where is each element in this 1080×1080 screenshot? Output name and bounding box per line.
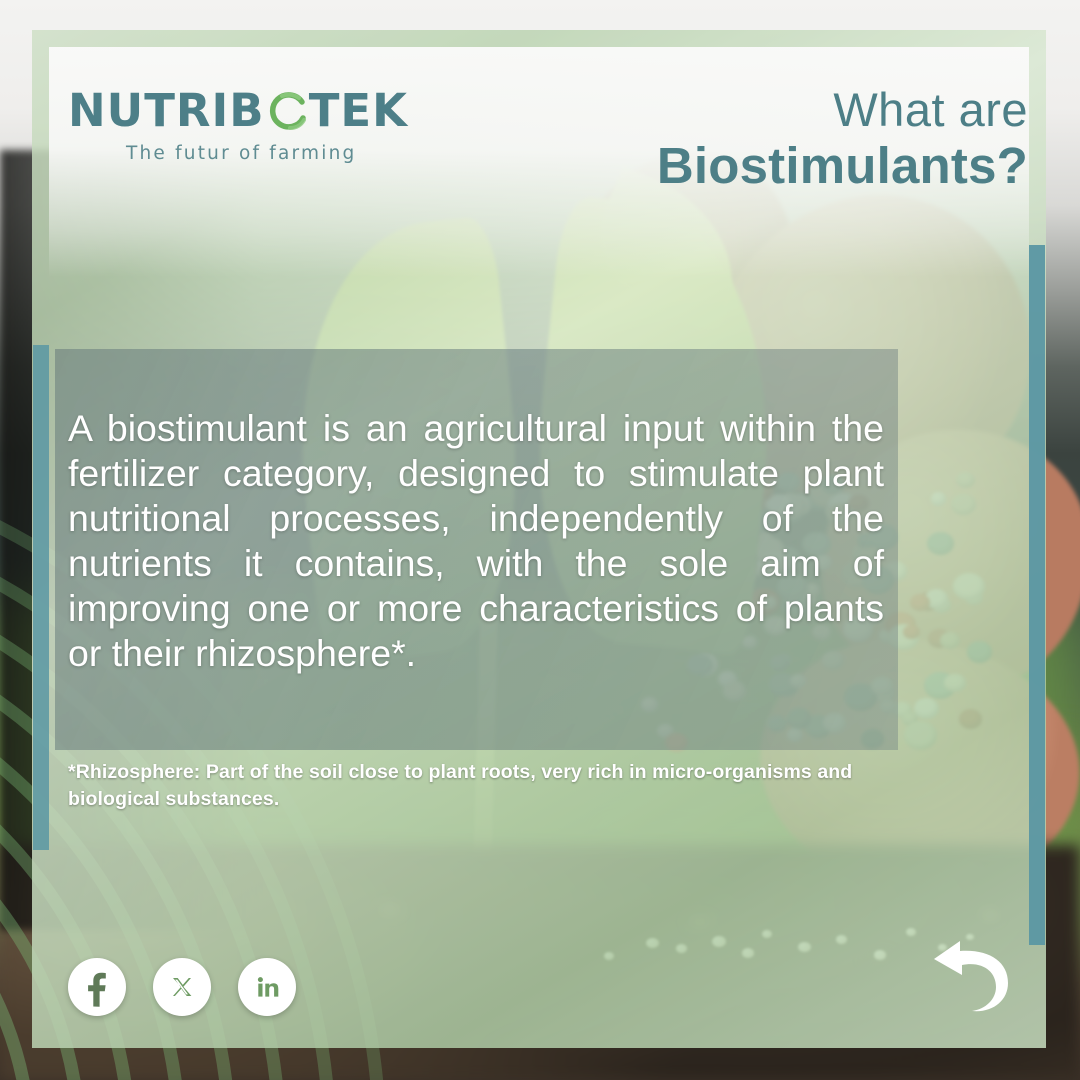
facebook-icon: [77, 967, 117, 1007]
post-canvas: NUTRIB TEK The futur of farming What are…: [0, 0, 1080, 1080]
brand-logo[interactable]: NUTRIB TEK The futur of farming: [68, 88, 408, 164]
title-line-2: Biostimulants?: [657, 140, 1028, 192]
social-link-x-twitter[interactable]: [153, 958, 211, 1016]
logo-wordmark: NUTRIB TEK: [68, 88, 408, 133]
green-circle-swoosh-icon: [266, 89, 308, 133]
social-link-linkedin[interactable]: [238, 958, 296, 1016]
swipe-back-button[interactable]: [930, 925, 1010, 1015]
accent-bar-left: [33, 345, 49, 850]
logo-text-part-1: NUTRIB: [68, 88, 265, 133]
logo-text-part-2: TEK: [309, 88, 408, 133]
social-links: [68, 958, 296, 1016]
definition-paragraph: A biostimulant is an agricultural input …: [68, 406, 884, 676]
title-line-1: What are: [657, 86, 1028, 134]
logo-tagline: The futur of farming: [126, 143, 408, 164]
undo-arrow-icon: [930, 925, 1010, 1015]
accent-bar-right: [1029, 245, 1045, 945]
page-title: What are Biostimulants?: [657, 86, 1028, 192]
rhizosphere-footnote: *Rhizosphere: Part of the soil close to …: [68, 759, 928, 813]
x-twitter-icon: [162, 967, 202, 1007]
social-link-facebook[interactable]: [68, 958, 126, 1016]
linkedin-icon: [247, 967, 287, 1007]
